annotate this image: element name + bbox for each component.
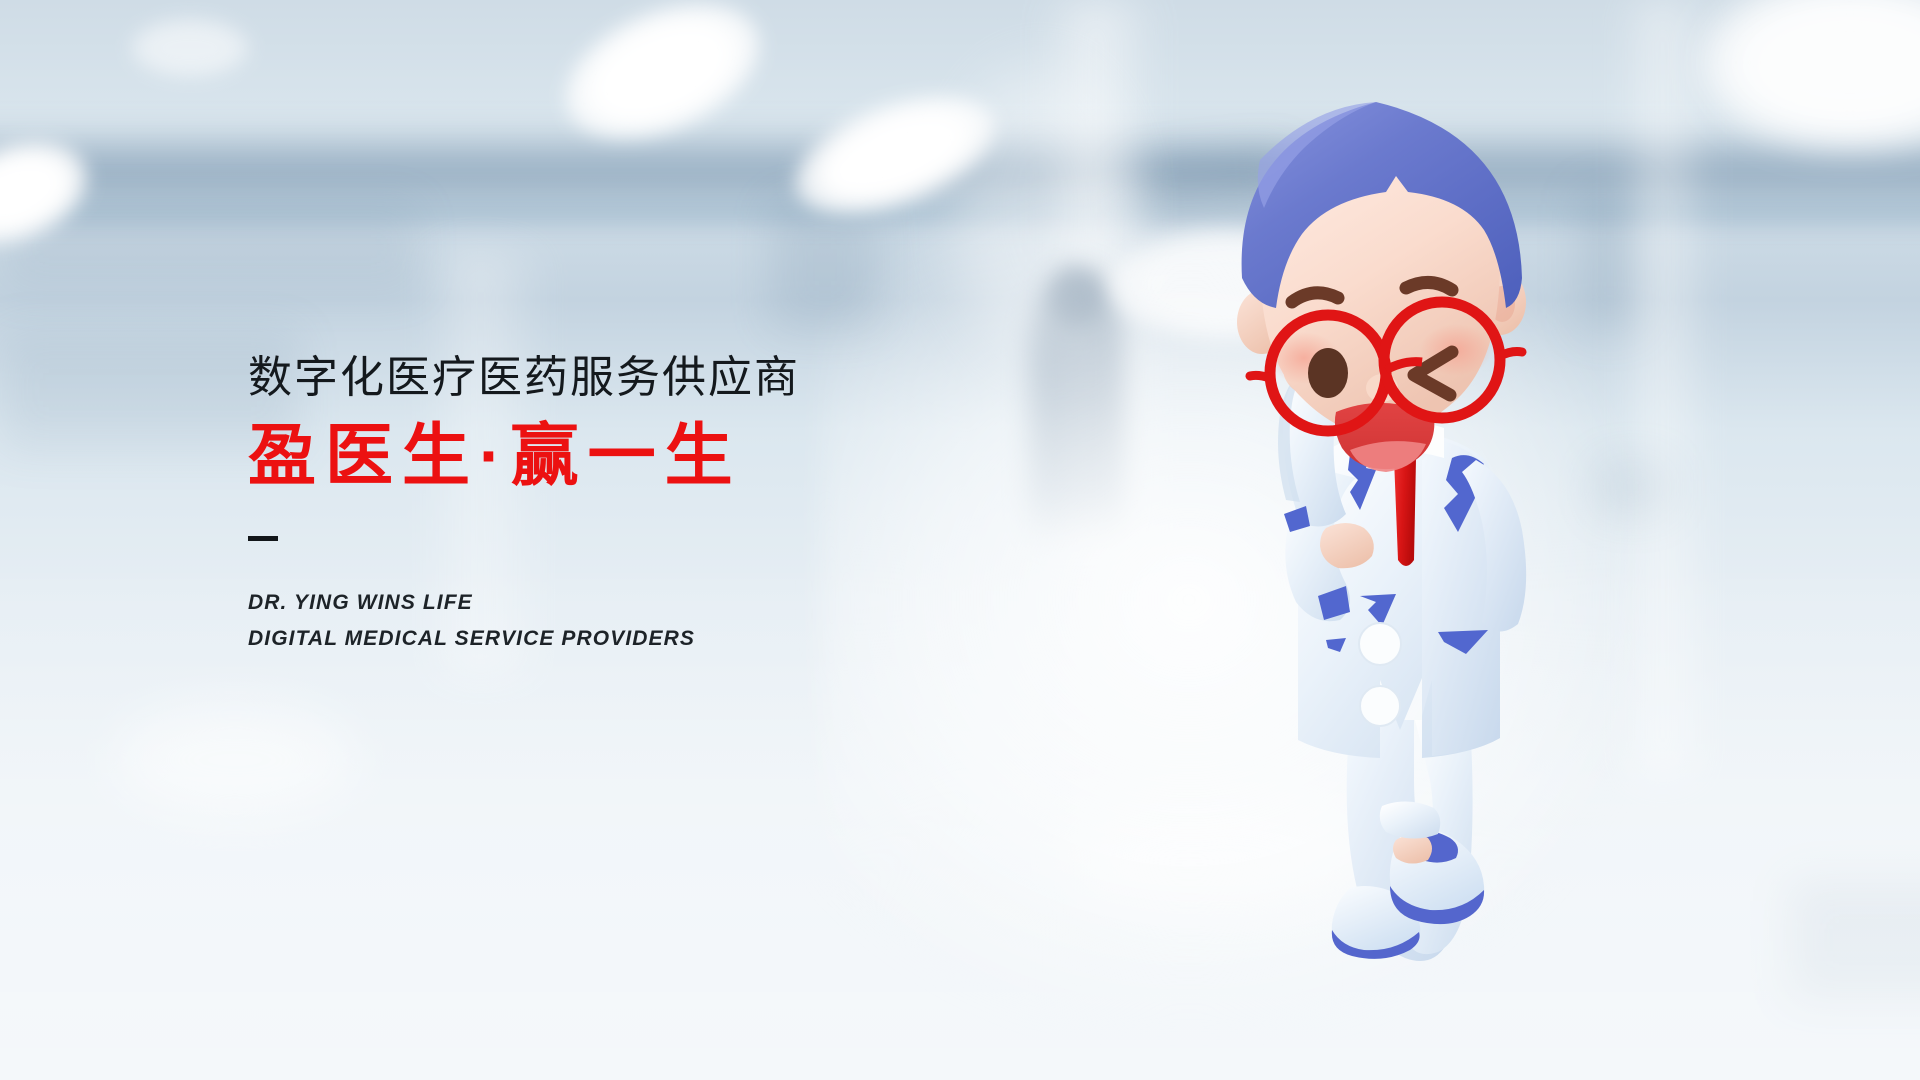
page-headline: 数字化医疗医药服务供应商 bbox=[248, 352, 800, 404]
hero-banner: 数字化医疗医药服务供应商 盈医生·赢一生 DR. YING WINS LIFE … bbox=[0, 0, 1920, 1080]
hero-copy-block: 数字化医疗医药服务供应商 盈医生·赢一生 DR. YING WINS LIFE … bbox=[248, 352, 800, 657]
eyebrow bbox=[1406, 282, 1452, 290]
open-eye bbox=[1308, 348, 1348, 398]
page-slogan: 盈医生·赢一生 bbox=[248, 418, 800, 494]
ceiling-light-bokeh bbox=[130, 18, 250, 78]
trouser-cuff bbox=[1380, 801, 1441, 838]
ankle-skin bbox=[1393, 834, 1432, 863]
english-subtitle-block: DR. YING WINS LIFE DIGITAL MEDICAL SERVI… bbox=[248, 585, 800, 657]
english-subtitle-line-1: DR. YING WINS LIFE bbox=[248, 585, 800, 621]
english-subtitle-line-2: DIGITAL MEDICAL SERVICE PROVIDERS bbox=[248, 621, 800, 657]
doctor-mascot-illustration bbox=[1200, 40, 1630, 1040]
divider-rule bbox=[248, 536, 278, 541]
